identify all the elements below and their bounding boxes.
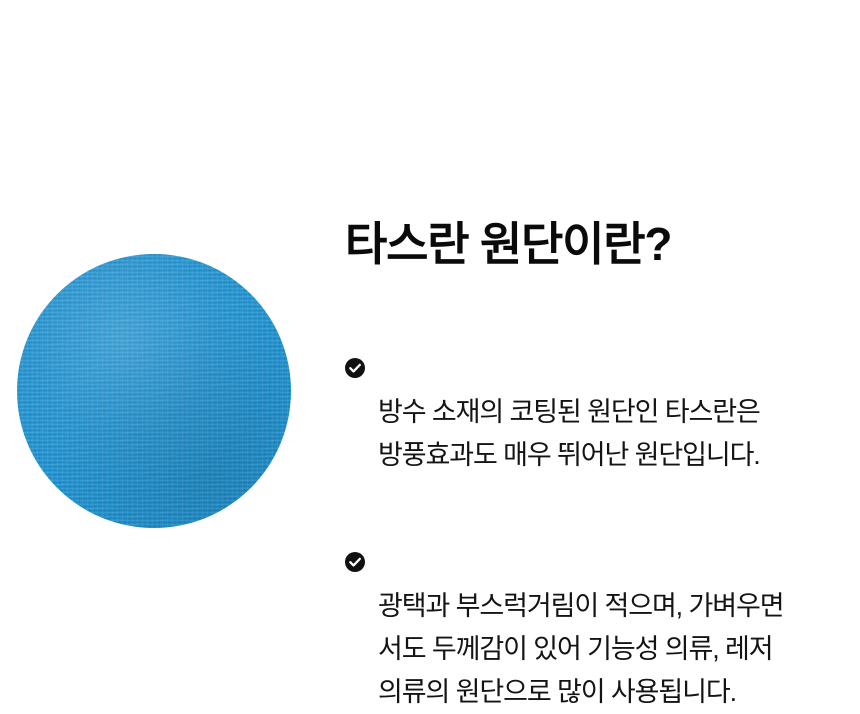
list-item-text: 방수 소재의 코팅된 원단인 타스란은 방풍효과도 매우 뛰어난 원단입니다. [378,397,760,470]
page-title: 타스란 원단이란? [345,216,845,272]
check-circle-icon [345,509,365,529]
fabric-swatch-circle [17,254,291,528]
list-item: 광택과 부스럭거림이 적으며, 가벼우면 서도 두께감이 있어 기능성 의류, … [345,499,845,714]
list-item: 방수 소재의 코팅된 원단인 타스란은 방풍효과도 매우 뛰어난 원단입니다. [345,305,845,477]
list-item-text: 광택과 부스럭거림이 적으며, 가벼우면 서도 두께감이 있어 기능성 의류, … [378,591,783,707]
check-circle-icon [345,315,365,335]
fabric-swatch-area [17,254,291,528]
feature-bullet-list: 방수 소재의 코팅된 원단인 타스란은 방풍효과도 매우 뛰어난 원단입니다. … [345,305,845,714]
fabric-sheen-overlay [17,254,291,528]
fabric-info-card: 타스란 원단이란? 방수 소재의 코팅된 원단인 타스란은 방풍효과도 매우 뛰… [0,0,860,637]
copy-block: 타스란 원단이란? 방수 소재의 코팅된 원단인 타스란은 방풍효과도 매우 뛰… [345,216,845,714]
